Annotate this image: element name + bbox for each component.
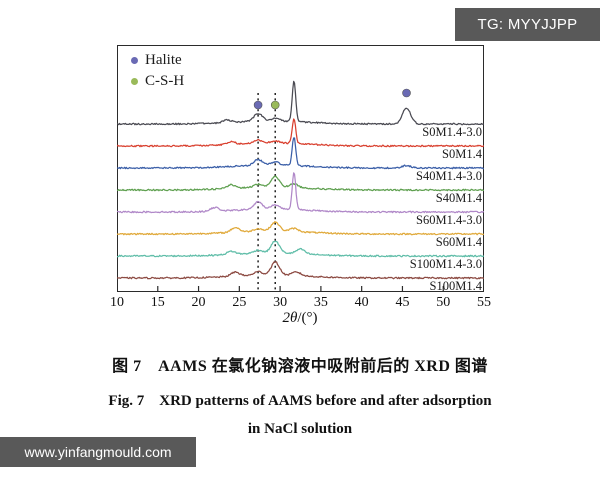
- x-axis-title: 2θ/(°): [0, 310, 600, 327]
- plot-legend: Halite C-S-H: [131, 50, 184, 92]
- halite-marker-icon: [131, 57, 138, 64]
- site-watermark: www.yinfangmould.com: [0, 437, 196, 467]
- curve-label-s60m1-4-3-0: S60M1.4-3.0: [416, 213, 482, 228]
- figure-page: TG: MYYJJPP Halite C-S-H S0M1.4-3.0S0M1.…: [0, 0, 600, 480]
- caption-chinese: 图 7 AAMS 在氯化钠溶液中吸附前后的 XRD 图谱: [40, 352, 560, 376]
- x-tick-label-25: 25: [232, 295, 246, 311]
- curve-label-s100m1-4-3-0: S100M1.4-3.0: [410, 257, 482, 272]
- curve-label-s0m1-4: S0M1.4: [442, 147, 482, 162]
- legend-label-halite: Halite: [145, 52, 182, 69]
- caption-english-2: in NaCl solution: [40, 421, 560, 438]
- curve-label-s40m1-4: S40M1.4: [436, 191, 482, 206]
- curve-label-s60m1-4: S60M1.4: [436, 235, 482, 250]
- x-tick-label-40: 40: [355, 295, 369, 311]
- x-tick-label-30: 30: [273, 295, 287, 311]
- x-tick-label-20: 20: [192, 295, 206, 311]
- watermark-text: www.yinfangmould.com: [24, 444, 171, 460]
- figure-caption: 图 7 AAMS 在氯化钠溶液中吸附前后的 XRD 图谱 Fig. 7 XRD …: [40, 352, 560, 438]
- legend-label-csh: C-S-H: [145, 73, 184, 90]
- x-tick-label-15: 15: [151, 295, 165, 311]
- legend-item-halite: Halite: [131, 50, 184, 71]
- caption-english-1: Fig. 7 XRD patterns of AAMS before and a…: [40, 389, 560, 410]
- phase-marker-csh-1: [271, 101, 279, 109]
- csh-marker-icon: [131, 78, 138, 85]
- curve-label-s40m1-4-3-0: S40M1.4-3.0: [416, 169, 482, 184]
- legend-item-csh: C-S-H: [131, 71, 184, 92]
- x-tick-label-35: 35: [314, 295, 328, 311]
- phase-marker-halite-2: [403, 89, 411, 97]
- curve-label-s0m1-4-3-0: S0M1.4-3.0: [422, 125, 482, 140]
- x-tick-label-45: 45: [395, 295, 409, 311]
- x-tick-label-50: 50: [436, 295, 450, 311]
- curve-label-s100m1-4: S100M1.4: [430, 279, 482, 294]
- xrd-curve-2: [117, 138, 484, 169]
- x-tick-label-10: 10: [110, 295, 124, 311]
- phase-marker-halite-0: [254, 101, 262, 109]
- x-tick-label-55: 55: [477, 295, 491, 311]
- xrd-curve-6: [117, 241, 484, 256]
- x-axis-title-text: 2θ/(°): [282, 310, 317, 326]
